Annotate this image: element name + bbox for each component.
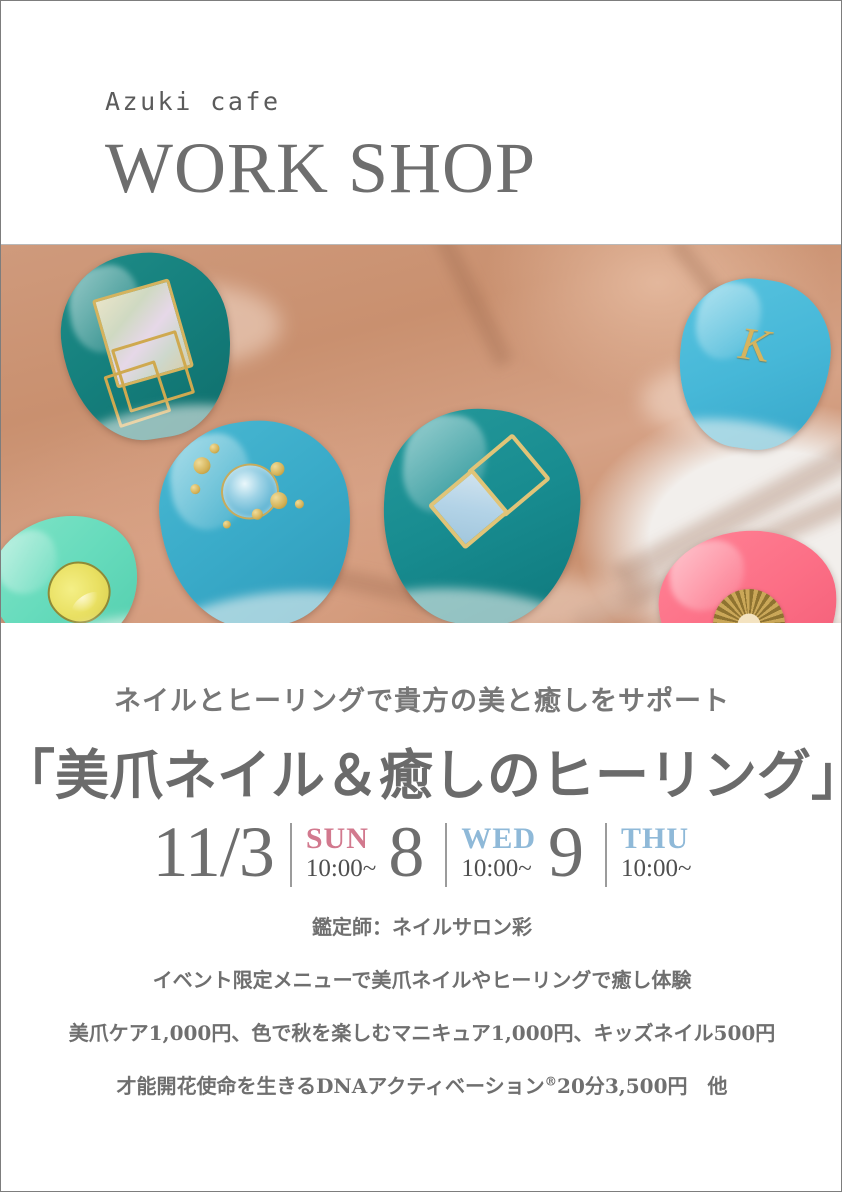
day-label-wed: WED (461, 823, 536, 855)
poster-header: Azuki cafe WORK SHOP (1, 1, 841, 245)
date-separator (445, 823, 447, 887)
date-separator (605, 823, 607, 887)
date-number-9: 9 (548, 819, 583, 885)
gold-dot (294, 499, 304, 509)
main-title: 「美爪ネイル＆癒しのヒーリング」 (1, 731, 842, 810)
date-row: 11/3 SUN 10:00~ 8 WED 10:00~ 9 THU 10:00… (1, 819, 842, 887)
detail-line-practitioner: 鑑定師：ネイルサロン彩 (1, 911, 842, 940)
brand-name: Azuki cafe (105, 87, 281, 116)
day-label-thu: THU (621, 823, 689, 855)
date-primary: 11/3 (153, 819, 274, 885)
poster: Azuki cafe WORK SHOP (0, 0, 842, 1192)
date-separator (290, 823, 292, 887)
detail-line-menu: イベント限定メニューで美爪ネイルやヒーリングで癒し体験 (1, 964, 842, 993)
day-time-wed: 10:00~ (461, 855, 531, 883)
date-entry-sun: SUN 10:00~ (306, 823, 376, 883)
poster-body: ネイルとヒーリングで貴方の美と癒しをサポート 「美爪ネイル＆癒しのヒーリング」 … (1, 623, 842, 1192)
registered-trademark-icon: ® (545, 1073, 557, 1088)
date-number-8: 8 (388, 819, 423, 885)
tagline: ネイルとヒーリングで貴方の美と癒しをサポート (1, 679, 842, 718)
page-title: WORK SHOP (105, 132, 536, 204)
date-entry-thu: THU 10:00~ (621, 823, 691, 883)
detail-lines: 鑑定師：ネイルサロン彩 イベント限定メニューで美爪ネイルやヒーリングで癒し体験 … (1, 911, 842, 1099)
detail-line-dna-pre: 才能開花使命を生きるDNAアクティベーション (116, 1074, 544, 1098)
day-time-thu: 10:00~ (621, 855, 691, 883)
day-label-sun: SUN (306, 823, 369, 855)
detail-line-dna: 才能開花使命を生きるDNAアクティベーション®20分3,500円 他 (1, 1070, 842, 1099)
detail-line-dna-post: 20分3,500円 他 (557, 1074, 727, 1098)
nail-photo: K (1, 245, 842, 623)
date-entry-wed: WED 10:00~ (461, 823, 536, 883)
detail-line-prices: 美爪ケア1,000円、色で秋を楽しむマニキュア1,000円、キッズネイル500円 (1, 1017, 842, 1046)
gold-dot (270, 461, 286, 477)
gold-dot (251, 508, 263, 520)
day-time-sun: 10:00~ (306, 855, 376, 883)
gold-script-motif: K (712, 310, 798, 380)
gold-dot (222, 520, 231, 529)
